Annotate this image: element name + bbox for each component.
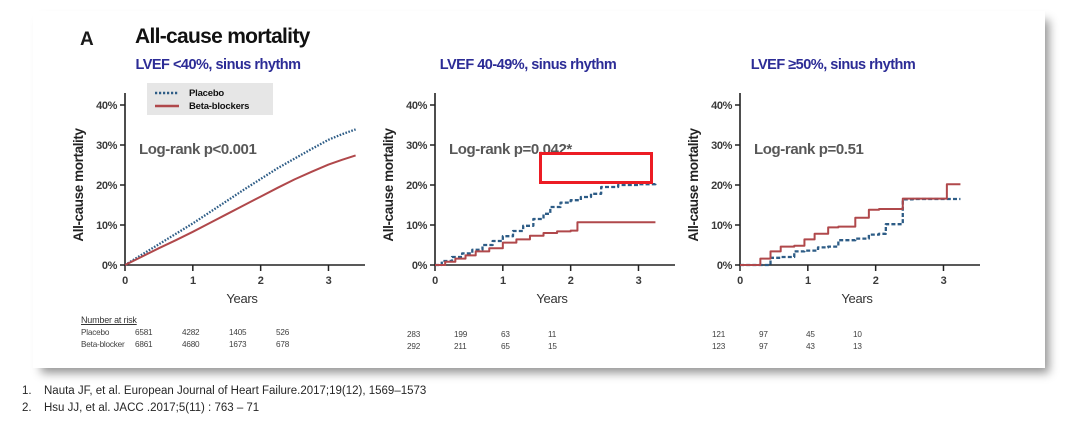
risk-row-placebo: Placebo2831996311 [407,330,595,342]
risk-row-beta-blocker: Beta-blocker2922116515 [407,342,595,354]
log-rank-pvalue: Log-rank p=0.042* [449,141,572,158]
x-axis-title: Years [226,291,258,306]
risk-value: 15 [548,342,595,351]
risk-value: 45 [806,330,853,339]
risk-value: 97 [759,330,806,339]
x-tick-label: 2 [258,275,264,287]
x-tick-label: 3 [326,275,332,287]
panel-subtitle: LVEF <40%, sinus rhythm [63,57,373,73]
y-tick-label: 0% [717,260,733,272]
risk-value: 6861 [135,340,182,349]
risk-header-spacer [407,315,595,330]
risk-value: 292 [407,342,454,351]
x-axis-title: Years [536,291,568,306]
risk-value: 199 [454,330,501,339]
reference-item: 2.Hsu JJ, et al. JACC .2017;5(11) : 763 … [22,400,722,417]
chart-panel-1: LVEF 40-49%, sinus rhythm0%10%20%30%40%0… [373,57,683,357]
risk-value: 11 [548,330,595,339]
risk-row-label: Placebo [81,328,135,337]
x-tick-label: 3 [636,275,642,287]
chart-panel-0: LVEF <40%, sinus rhythm0%10%20%30%40%012… [63,57,373,357]
risk-value: 678 [276,340,323,349]
risk-value: 1673 [229,340,276,349]
risk-value: 211 [454,342,501,351]
y-tick-label: 40% [96,100,117,112]
y-tick-label: 20% [96,180,117,192]
y-axis-title: All-cause mortality [381,128,396,242]
risk-row-label: Beta-blocker [81,340,135,349]
chart-panel-2: LVEF ≥50%, sinus rhythm0%10%20%30%40%012… [678,57,988,357]
y-tick-label: 0% [412,260,428,272]
y-axis-title: All-cause mortality [71,128,86,242]
log-rank-pvalue: Log-rank p=0.51 [754,141,864,158]
number-at-risk-header: Number at risk [81,315,323,325]
y-tick-label: 20% [406,180,427,192]
y-tick-label: 10% [406,220,427,232]
x-tick-label: 0 [122,275,128,287]
x-axis-title: Years [841,291,873,306]
x-tick-label: 0 [432,275,438,287]
figure-card: A All-cause mortality LVEF <40%, sinus r… [33,11,1045,368]
risk-row-beta-blocker: Beta-blocker123974313 [712,342,900,354]
reference-text: Nauta JF, et al. European Journal of Hea… [44,383,426,400]
series-line-placebo [740,199,960,265]
legend-label-placebo: Placebo [189,88,224,99]
y-tick-label: 40% [711,100,732,112]
risk-value: 65 [501,342,548,351]
risk-value: 97 [759,342,806,351]
panel-subtitle: LVEF 40-49%, sinus rhythm [373,57,683,73]
panel-subtitle: LVEF ≥50%, sinus rhythm [678,57,988,73]
risk-row-beta-blocker: Beta-blocker686146801673678 [81,340,323,352]
risk-value: 6581 [135,328,182,337]
risk-value: 1405 [229,328,276,337]
risk-header-spacer [712,315,900,330]
x-tick-label: 1 [500,275,506,287]
chart-legend: PlaceboBeta-blockers [147,83,273,115]
y-tick-label: 30% [711,140,732,152]
y-tick-label: 10% [96,220,117,232]
x-tick-label: 1 [190,275,196,287]
y-tick-label: 20% [711,180,732,192]
risk-value: 121 [712,330,759,339]
km-plot: 0%10%20%30%40%0123YearsAll-cause mortali… [678,79,988,329]
y-tick-label: 10% [711,220,732,232]
y-tick-label: 30% [96,140,117,152]
y-tick-label: 0% [102,260,118,272]
slide-root: A All-cause mortality LVEF <40%, sinus r… [0,0,1080,432]
x-tick-label: 1 [805,275,811,287]
series-line-placebo [435,183,655,265]
reference-number: 1. [22,383,44,400]
legend-label-beta-blockers: Beta-blockers [189,101,249,112]
y-axis-title: All-cause mortality [686,128,701,242]
risk-value: 43 [806,342,853,351]
km-plot: 0%10%20%30%40%0123YearsAll-cause mortali… [373,79,683,329]
risk-value: 4680 [182,340,229,349]
x-tick-label: 2 [873,275,879,287]
series-line-beta-blockers [125,155,356,265]
reference-item: 1.Nauta JF, et al. European Journal of H… [22,383,722,400]
risk-row-placebo: Placebo121974510 [712,330,900,342]
reference-number: 2. [22,400,44,417]
x-tick-label: 3 [941,275,947,287]
series-line-beta-blockers [740,184,960,265]
risk-value: 63 [501,330,548,339]
panel-letter: A [80,29,93,51]
risk-value: 10 [853,330,900,339]
y-tick-label: 30% [406,140,427,152]
log-rank-pvalue: Log-rank p<0.001 [139,141,256,158]
number-at-risk-table: Placebo2831996311Beta-blocker2922116515 [407,315,595,354]
risk-value: 13 [853,342,900,351]
x-tick-label: 2 [568,275,574,287]
risk-value: 283 [407,330,454,339]
risk-row-placebo: Placebo658142821405526 [81,328,323,340]
figure-title: All-cause mortality [135,25,310,49]
number-at-risk-table: Placebo121974510Beta-blocker123974313 [712,315,900,354]
km-plot: 0%10%20%30%40%0123YearsAll-cause mortali… [63,79,373,329]
reference-list: 1.Nauta JF, et al. European Journal of H… [22,383,722,417]
series-line-beta-blockers [435,222,655,265]
risk-value: 4282 [182,328,229,337]
chart-panels: LVEF <40%, sinus rhythm0%10%20%30%40%012… [33,57,1045,357]
number-at-risk-table: Number at riskPlacebo658142821405526Beta… [81,315,323,352]
risk-value: 526 [276,328,323,337]
y-tick-label: 40% [406,100,427,112]
reference-text: Hsu JJ, et al. JACC .2017;5(11) : 763 – … [44,400,259,417]
x-tick-label: 0 [737,275,743,287]
risk-value: 123 [712,342,759,351]
